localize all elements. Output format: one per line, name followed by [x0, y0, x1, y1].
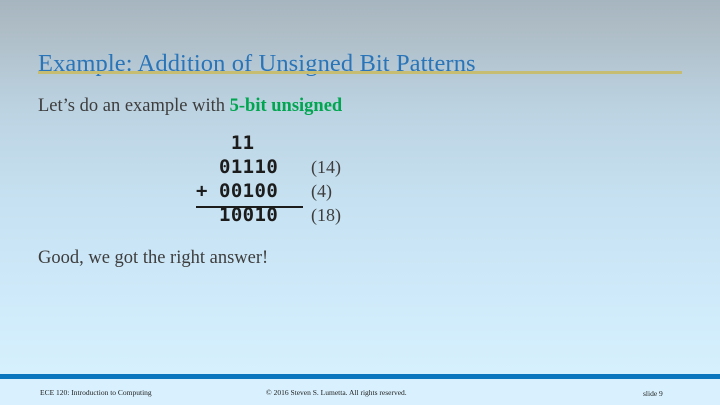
closing-sentence: Good, we got the right answer! — [38, 248, 268, 269]
addend-row-2-decimal: (4) — [311, 179, 332, 203]
lead-sentence-prefix: Let’s do an example with — [38, 96, 230, 116]
addition-bar — [196, 206, 303, 208]
footer-course-label: ECE 120: Introduction to Computing — [40, 388, 152, 397]
addend-row-2: +00100(4) — [196, 179, 341, 203]
addend-row-1-bits: 01110 — [219, 155, 303, 179]
footer-copyright-label: © 2016 Steven S. Lumetta. All rights res… — [266, 388, 407, 397]
slide-canvas: Example: Addition of Unsigned Bit Patter… — [0, 0, 720, 405]
addend-row-1: 01110(14) — [196, 155, 341, 179]
addend-row-2-bits: 00100 — [219, 179, 303, 203]
sum-row-decimal: (18) — [311, 203, 341, 227]
title-divider — [38, 71, 682, 74]
addend-row-2-operator: + — [196, 179, 219, 203]
footer-slide-number: slide 9 — [643, 389, 663, 398]
carry-row-bits: 11 — [219, 131, 303, 155]
lead-sentence: Let’s do an example with 5-bit unsigned — [38, 96, 342, 117]
addition-worksheet: 11 01110(14) +00100(4) 10010(18) — [196, 131, 341, 227]
page-title: Example: Addition of Unsigned Bit Patter… — [38, 50, 476, 78]
lead-sentence-highlight: 5-bit unsigned — [230, 96, 343, 116]
carry-row: 11 — [196, 131, 341, 155]
addend-row-1-decimal: (14) — [311, 155, 341, 179]
slide-footer: ECE 120: Introduction to Computing © 201… — [0, 379, 720, 405]
